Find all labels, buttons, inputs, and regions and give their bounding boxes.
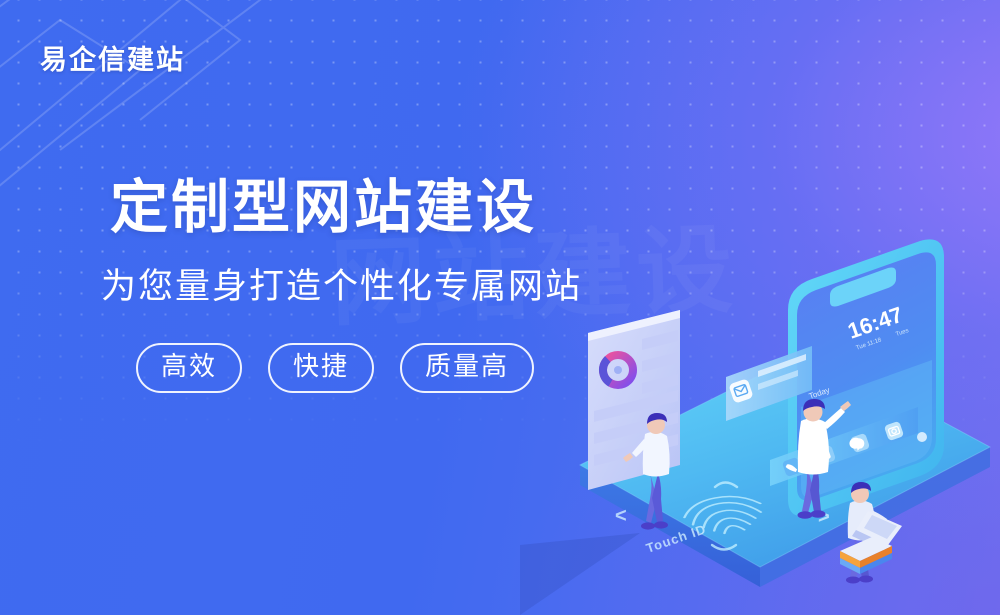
platform-shadow: [520, 533, 640, 615]
site-logo[interactable]: 易企信建站: [40, 38, 185, 77]
books-stack: [840, 537, 892, 574]
touch-id-left-arrow: <: [615, 505, 627, 527]
feature-tag-fast[interactable]: 快捷: [268, 343, 374, 393]
page-title: 定制型网站建设: [110, 160, 537, 244]
feature-tag-quality[interactable]: 质量高: [400, 343, 534, 393]
feature-tag-efficient[interactable]: 高效: [136, 343, 242, 393]
hero-illustration: 16:47 Tue 11:18 Tues Today: [520, 215, 1000, 615]
phone-home-indicator: [917, 432, 927, 442]
page-subtitle: 为您量身打造个性化专属网站: [101, 258, 582, 309]
hero-banner: 网站建设 易企信建站 定制型网站建设 为您量身打造个性化专属网站 高效 快捷 质…: [0, 0, 1000, 615]
feature-tag-list: 高效 快捷 质量高: [136, 343, 534, 393]
